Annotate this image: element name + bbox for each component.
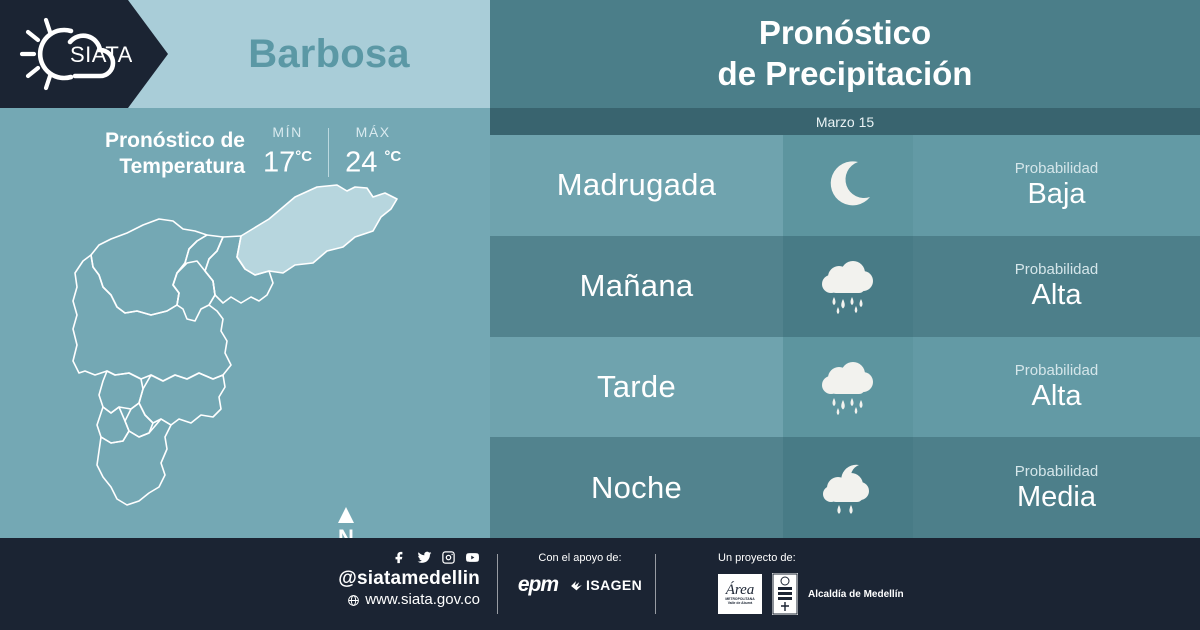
epm-logo: epm [518, 573, 558, 597]
map-region-medellin [73, 255, 231, 381]
temperature-min-reading: 17°C [263, 141, 312, 179]
forecast-rows: Madrugada Probabilidad Baja Mañana [490, 135, 1200, 538]
weather-forecast-poster: SIATA Barbosa Pronóstico de Temperatura … [0, 0, 1200, 630]
table-row[interactable]: Noche Probabilid [490, 437, 1200, 538]
moon-icon [817, 154, 879, 216]
precipitation-header: Pronóstico de Precipitación [490, 0, 1200, 108]
map-region-copacabana [173, 235, 223, 321]
left-header-bar: SIATA Barbosa [0, 0, 490, 108]
temperature-max: MÁX 24°C [345, 124, 401, 179]
temperature-title-line1: Pronóstico de [60, 128, 245, 154]
temperature-values: MÍN 17°C MÁX 24°C [263, 124, 401, 179]
temperature-min-label: MÍN [272, 124, 302, 140]
sun-cloud-icon: SIATA [14, 12, 132, 96]
social-block: @siatamedellin www.siata.gov.co [330, 550, 480, 610]
map-region-barbosa [237, 185, 397, 275]
precipitation-title: Pronóstico de Precipitación [490, 12, 1200, 94]
area-metropolitana-logo: Área METROPOLITANA Valle de Aburrá [718, 574, 762, 614]
period-cell: Tarde [490, 337, 783, 438]
table-row[interactable]: Mañana [490, 236, 1200, 337]
alcaldia-label: Alcaldía de Medellín [808, 589, 904, 600]
temperature-panel: SIATA Barbosa Pronóstico de Temperatura … [0, 0, 490, 538]
social-handle[interactable]: @siatamedellin [330, 568, 480, 590]
temperature-min-value: 17 [263, 147, 295, 179]
website-url: www.siata.gov.co [365, 590, 480, 610]
period-cell: Noche [490, 437, 783, 538]
probability-value: Alta [1032, 279, 1082, 312]
table-row[interactable]: Madrugada Probabilidad Baja [490, 135, 1200, 236]
probability-cell: Probabilidad Media [913, 437, 1200, 538]
period-label: Tarde [597, 369, 676, 405]
temperature-divider [328, 128, 329, 177]
period-cell: Mañana [490, 236, 783, 337]
probability-caption: Probabilidad [1015, 260, 1098, 279]
globe-icon [347, 594, 360, 607]
period-label: Mañana [580, 268, 694, 304]
logo-text: SIATA [70, 42, 132, 67]
map-region-caldas [97, 419, 171, 505]
website-line[interactable]: www.siata.gov.co [330, 590, 480, 610]
precipitation-panel: Pronóstico de Precipitación Marzo 15 Mad… [490, 0, 1200, 538]
rain-cloud-icon [817, 255, 879, 317]
rain-cloud-icon [817, 356, 879, 418]
project-logos: Área METROPOLITANA Valle de Aburrá Alcal… [718, 573, 918, 615]
precipitation-title-line1: Pronóstico [490, 12, 1200, 53]
isagen-mark-icon [570, 579, 583, 592]
temperature-max-value: 24 [345, 147, 377, 179]
alcaldia-crest-svg [772, 573, 798, 615]
area-sub-line2: Valle de Aburrá [728, 601, 753, 605]
probability-caption: Probabilidad [1015, 159, 1098, 178]
probability-value: Baja [1027, 178, 1085, 211]
probability-cell: Probabilidad Alta [913, 236, 1200, 337]
alcaldia-crest-icon [772, 573, 798, 615]
map-svg [55, 175, 475, 530]
probability-value: Alta [1032, 380, 1082, 413]
period-label: Madrugada [557, 167, 717, 203]
isagen-logo: ISAGEN [570, 577, 642, 593]
support-caption: Con el apoyo de: [510, 552, 650, 564]
project-caption: Un proyecto de: [718, 552, 918, 564]
facebook-icon[interactable] [393, 550, 408, 565]
map-region-bello [91, 219, 207, 315]
precipitation-title-line2: de Precipitación [490, 53, 1200, 94]
weather-icon-cell [783, 135, 913, 236]
temperature-max-label: MÁX [356, 124, 391, 140]
probability-cell: Probabilidad Alta [913, 337, 1200, 438]
map-region-itagui [99, 371, 143, 413]
temperature-min-unit: °C [295, 148, 312, 165]
period-cell: Madrugada [490, 135, 783, 236]
probability-value: Media [1017, 481, 1096, 514]
youtube-icon[interactable] [465, 550, 480, 565]
area-mark-text: Área [726, 583, 755, 597]
table-row[interactable]: Tarde [490, 337, 1200, 438]
forecast-date: Marzo 15 [490, 108, 1200, 135]
footer-divider [497, 554, 498, 614]
weather-icon-cell [783, 437, 913, 538]
probability-caption: Probabilidad [1015, 462, 1098, 481]
weather-icon-cell [783, 236, 913, 337]
period-label: Noche [591, 470, 682, 506]
support-logos: epm ISAGEN [510, 573, 650, 597]
page-title: Barbosa [168, 0, 490, 108]
isagen-text: ISAGEN [586, 577, 642, 593]
temperature-max-unit: °C [384, 148, 401, 165]
moon-rain-cloud-icon [817, 457, 879, 519]
social-icons [330, 550, 480, 565]
probability-cell: Probabilidad Baja [913, 135, 1200, 236]
project-block: Un proyecto de: Área METROPOLITANA Valle… [718, 552, 918, 615]
footer-divider [655, 554, 656, 614]
temperature-title: Pronóstico de Temperatura [60, 124, 245, 180]
map-region-envigado [139, 373, 225, 425]
twitter-icon[interactable] [417, 550, 432, 565]
brand-chevron: SIATA [0, 0, 168, 108]
probability-caption: Probabilidad [1015, 361, 1098, 380]
temperature-max-reading: 24°C [345, 141, 401, 179]
temperature-min: MÍN 17°C [263, 124, 312, 179]
weather-icon-cell [783, 337, 913, 438]
instagram-icon[interactable] [441, 550, 456, 565]
footer: @siatamedellin www.siata.gov.co Con el a… [0, 538, 1200, 630]
aburra-valley-map[interactable]: N [55, 175, 475, 530]
support-block: Con el apoyo de: epm ISAGEN [510, 552, 650, 597]
